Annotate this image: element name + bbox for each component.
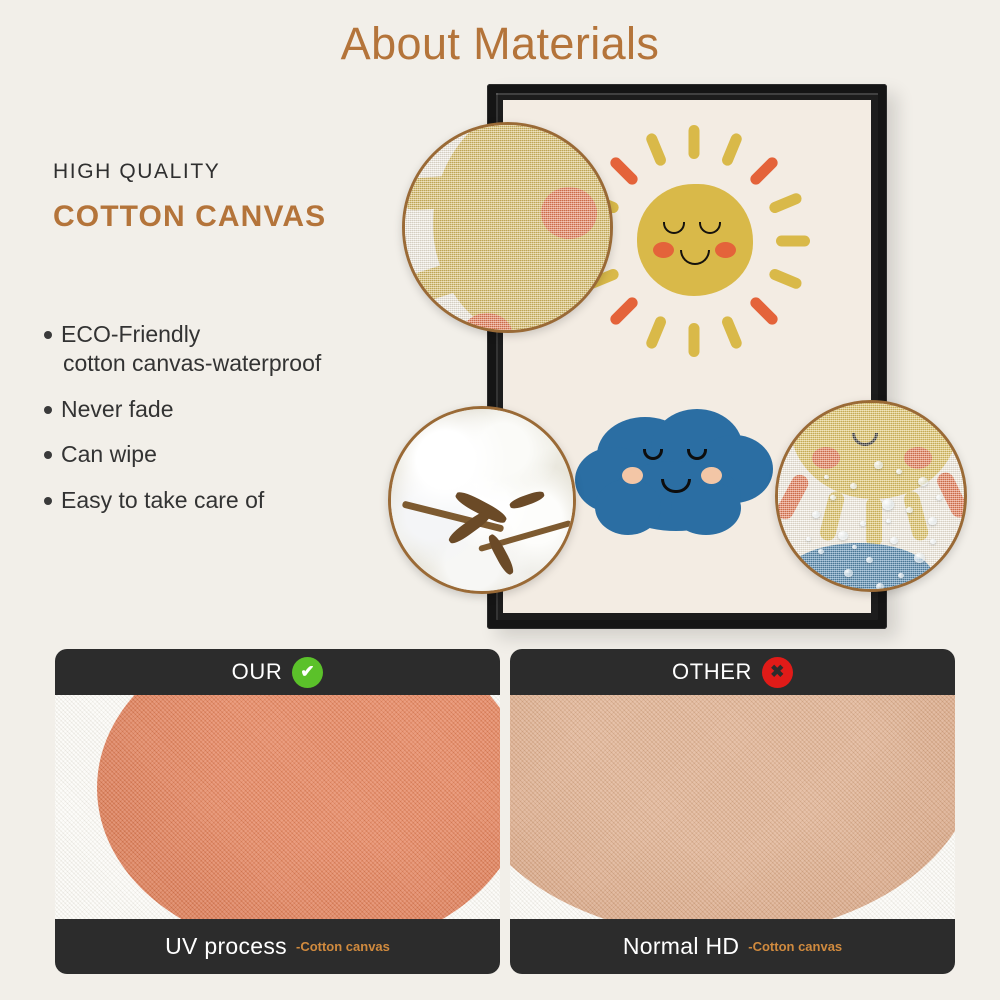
- zoom-cheek-left: [812, 447, 840, 469]
- cross-icon: ✖: [762, 657, 793, 688]
- zoom-cheek-right: [904, 447, 932, 469]
- frame-highlight-top: [496, 93, 878, 95]
- panel-swatch-other: [510, 695, 955, 919]
- panel-header: OTHER ✖: [510, 649, 955, 695]
- sun-ray: [768, 192, 804, 215]
- zoom-ray: [402, 175, 466, 212]
- panel-caption-note: -Cotton canvas: [748, 939, 842, 954]
- water-droplet: [928, 517, 937, 525]
- panel-caption-label: UV process: [165, 933, 287, 960]
- panel-swatch-our: [55, 695, 500, 919]
- list-item: ECO-Friendly cotton canvas-waterproof: [44, 320, 424, 379]
- headline-text: COTTON CANVAS: [53, 200, 413, 234]
- left-text-block: HIGH QUALITY COTTON CANVAS: [53, 160, 413, 234]
- bullet-dot-icon: [44, 451, 52, 459]
- zoom-cheek-spot: [541, 187, 597, 239]
- sun-ray: [608, 155, 640, 187]
- panel-caption: Normal HD -Cotton canvas: [510, 919, 955, 974]
- sun-ray: [748, 155, 780, 187]
- sun-ray: [689, 125, 700, 159]
- bullet-label: Can wipe: [61, 440, 157, 469]
- bullet-label: ECO-Friendly: [61, 321, 200, 347]
- sun-eye-right-icon: [699, 222, 721, 234]
- canvas-texture-zoom: [402, 122, 613, 333]
- feature-bullet-list: ECO-Friendly cotton canvas-waterproof Ne…: [44, 320, 424, 531]
- sun-ray: [645, 132, 668, 168]
- sun-ray: [720, 315, 743, 351]
- bullet-dot-icon: [44, 331, 52, 339]
- water-droplet: [876, 583, 884, 590]
- bullet-dot-icon: [44, 497, 52, 505]
- panel-caption-note: -Cotton canvas: [296, 939, 390, 954]
- sun-cheek-right: [715, 242, 736, 258]
- panel-header-label: OUR: [232, 659, 283, 685]
- sun-cheek-left: [653, 242, 674, 258]
- kicker-text: HIGH QUALITY: [53, 160, 413, 184]
- list-item: Never fade: [44, 395, 424, 424]
- sun-illustration: [589, 136, 799, 346]
- panel-caption-label: Normal HD: [623, 933, 739, 960]
- infographic-stage: About Materials HIGH QUALITY COTTON CANV…: [0, 0, 1000, 1000]
- waterproof-droplets-zoom: [775, 400, 967, 592]
- uv-print-circle: [97, 695, 500, 919]
- zoom-ray: [866, 497, 882, 547]
- cloud-cheek-left: [622, 467, 643, 484]
- water-droplet: [914, 553, 925, 563]
- cotton-photo-zoom: [388, 406, 576, 594]
- list-item: Can wipe: [44, 440, 424, 469]
- panel-header: OUR ✔: [55, 649, 500, 695]
- sun-ray: [689, 323, 700, 357]
- comparison-panel-other: OTHER ✖ Normal HD -Cotton canvas: [510, 649, 955, 974]
- normal-hd-print-circle: [510, 695, 955, 919]
- page-title: About Materials: [0, 18, 1000, 70]
- water-droplet: [812, 511, 820, 518]
- bullet-sublabel: cotton canvas-waterproof: [61, 349, 321, 378]
- bullet-label: Never fade: [61, 395, 174, 424]
- water-droplet: [918, 477, 928, 486]
- sun-ray: [645, 315, 668, 351]
- water-droplet: [838, 531, 848, 540]
- water-droplet: [844, 569, 853, 577]
- sun-ray: [608, 295, 640, 327]
- list-item: Easy to take care of: [44, 486, 424, 515]
- panel-header-label: OTHER: [672, 659, 752, 685]
- sun-eye-left-icon: [663, 222, 685, 234]
- bullet-dot-icon: [44, 406, 52, 414]
- comparison-panel-our: OUR ✔ UV process -Cotton canvas: [55, 649, 500, 974]
- panel-caption: UV process -Cotton canvas: [55, 919, 500, 974]
- sun-ray: [768, 267, 804, 290]
- water-droplet: [874, 461, 883, 469]
- cloud-lobe: [595, 479, 661, 535]
- sun-ray: [776, 236, 810, 247]
- bullet-label: Easy to take care of: [61, 486, 264, 515]
- cloud-illustration: [575, 405, 775, 545]
- sun-ray: [748, 295, 780, 327]
- sun-mouth-icon: [680, 250, 710, 265]
- check-icon: ✔: [292, 657, 323, 688]
- sun-body: [637, 184, 753, 296]
- water-droplet: [890, 537, 898, 544]
- sun-ray: [720, 132, 743, 168]
- cloud-cheek-right: [701, 467, 722, 484]
- water-droplet: [882, 499, 894, 510]
